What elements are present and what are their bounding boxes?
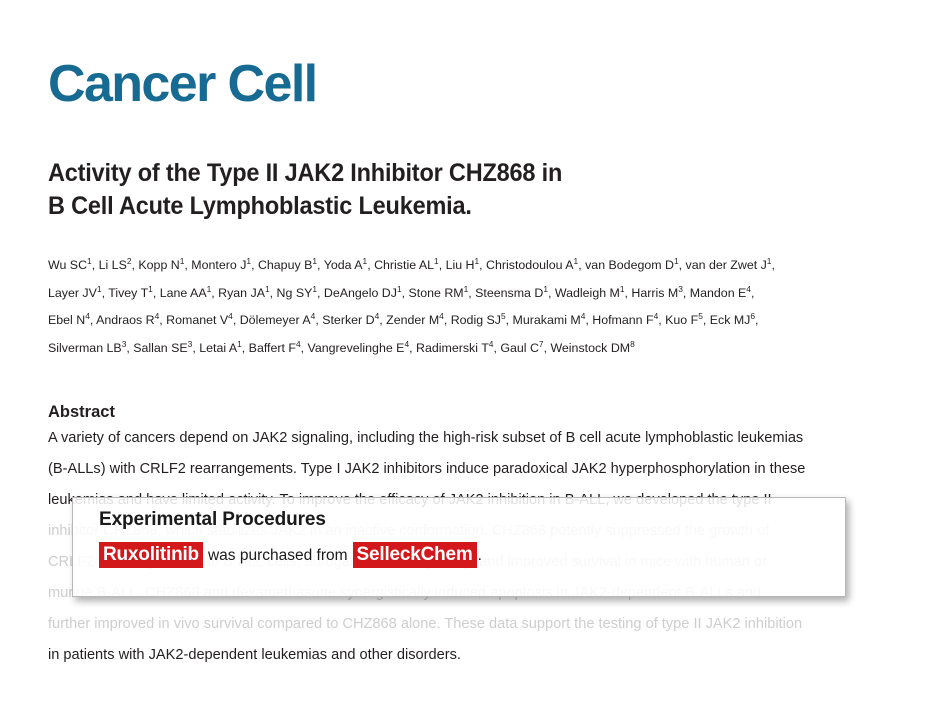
abstract-line: A variety of cancers depend on JAK2 sign… (48, 423, 893, 454)
author-line: Layer JV1, Tivey T1, Lane AA1, Ryan JA1,… (48, 280, 898, 308)
popup-sentence: Ruxolitinibwas purchased fromSelleckChem… (99, 545, 845, 566)
author-list: Wu SC1, Li LS2, Kopp N1, Montero J1, Cha… (48, 252, 898, 362)
popup-title: Experimental Procedures (99, 510, 845, 531)
experimental-procedures-popup[interactable]: Experimental Procedures Ruxolitinibwas p… (72, 497, 846, 597)
article-title: Activity of the Type II JAK2 Inhibitor C… (48, 157, 838, 223)
article-title-line-1: Activity of the Type II JAK2 Inhibitor C… (48, 157, 838, 190)
article-page: Cancer Cell Activity of the Type II JAK2… (0, 0, 930, 708)
article-title-line-2: B Cell Acute Lymphoblastic Leukemia. (48, 190, 838, 223)
highlighted-term-ruxolitinib[interactable]: Ruxolitinib (99, 542, 203, 568)
highlighted-term-selleckchem[interactable]: SelleckChem (353, 542, 477, 568)
author-line: Ebel N4, Andraos R4, Romanet V4, Dölemey… (48, 307, 898, 335)
abstract-heading: Abstract (48, 403, 115, 422)
abstract-line: in patients with JAK2-dependent leukemia… (48, 640, 893, 671)
popup-middle-text: was purchased from (203, 547, 353, 564)
journal-logo: Cancer Cell (48, 58, 317, 110)
abstract-line: further improved in vivo survival compar… (48, 609, 893, 640)
popup-trailing-punctuation: . (477, 547, 482, 564)
author-line: Silverman LB3, Sallan SE3, Letai A1, Baf… (48, 335, 898, 363)
author-line: Wu SC1, Li LS2, Kopp N1, Montero J1, Cha… (48, 252, 898, 280)
abstract-line: (B-ALLs) with CRLF2 rearrangements. Type… (48, 454, 893, 485)
